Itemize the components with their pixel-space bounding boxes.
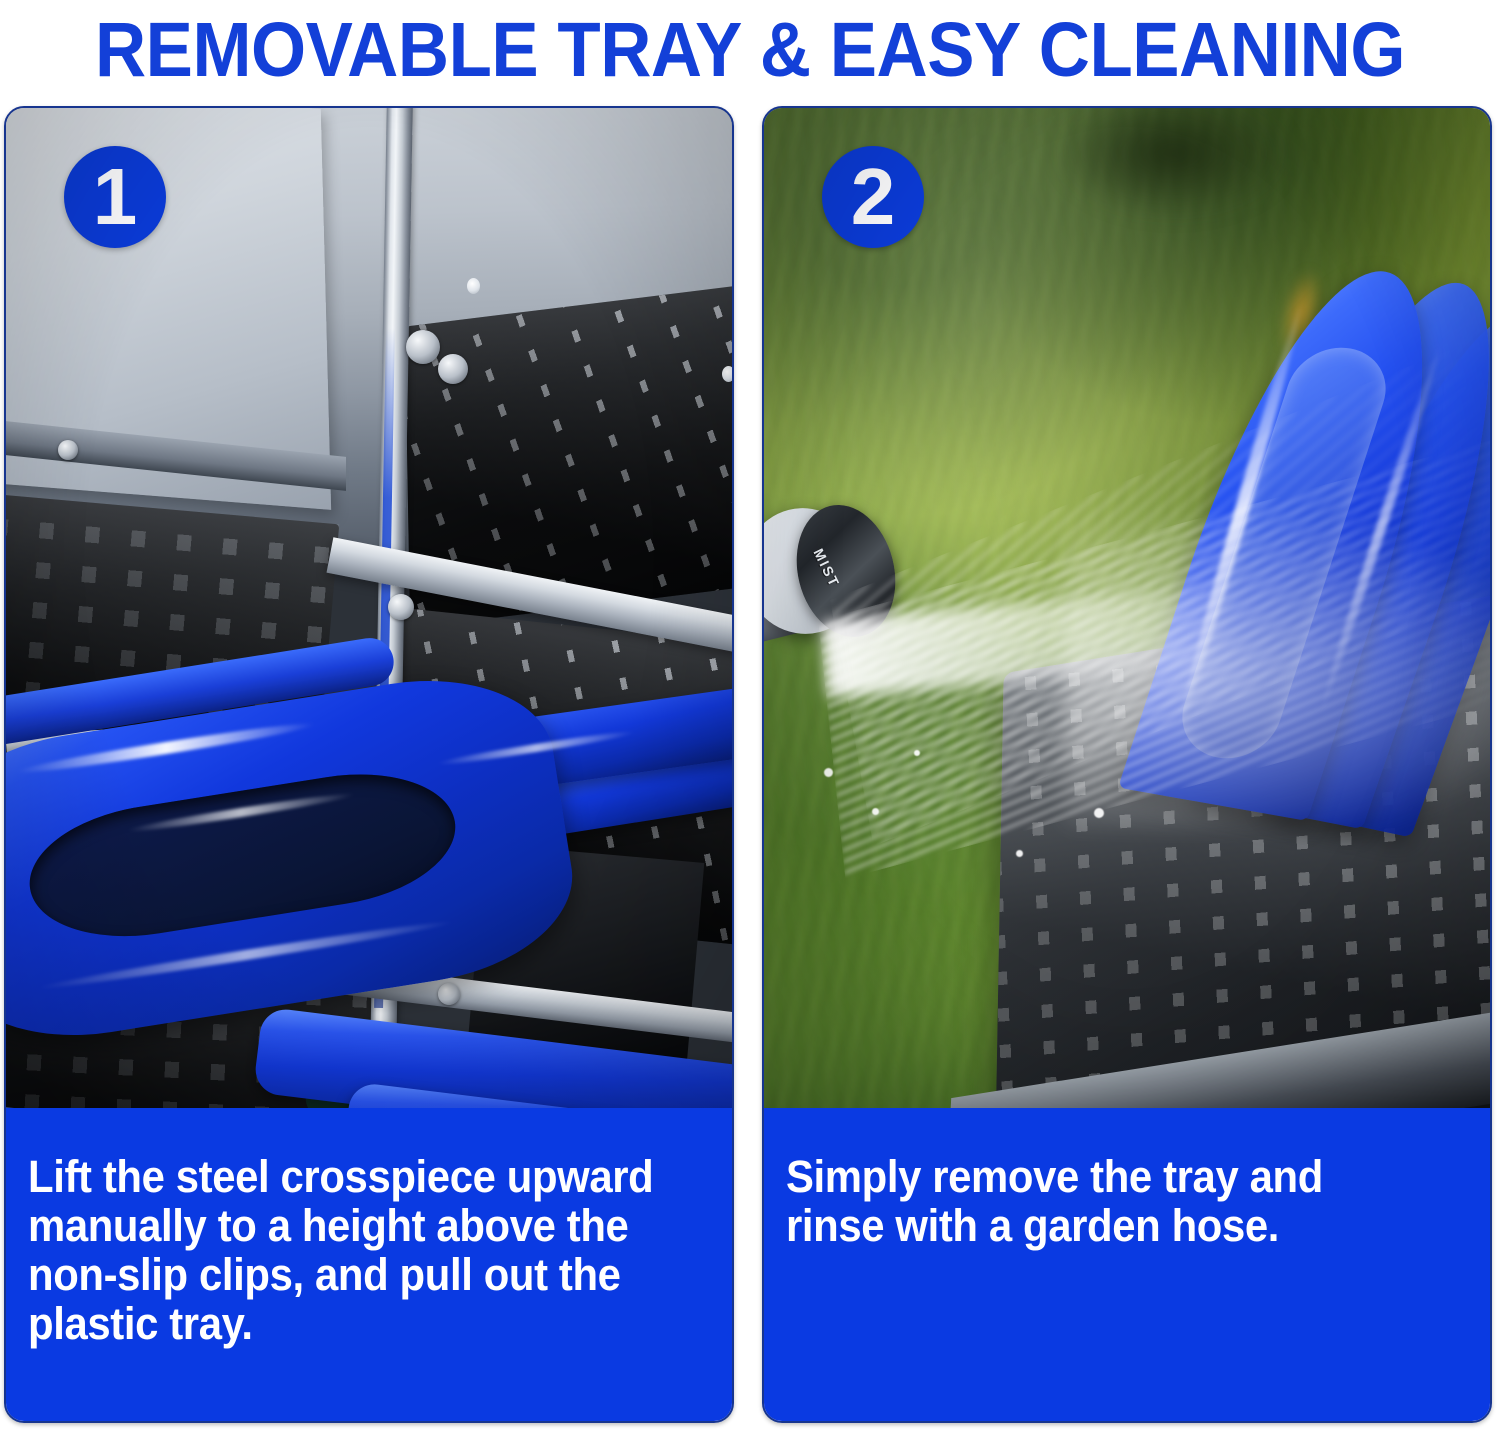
- water-droplet: [872, 808, 879, 815]
- water-droplet: [914, 750, 920, 756]
- steps-container: 1 Lift the steel crosspiece upward manua…: [0, 100, 1500, 1430]
- rivet-icon: [467, 278, 480, 294]
- step-badge-1: 1: [64, 146, 166, 248]
- bolt-icon: [438, 354, 468, 384]
- step-1-photo: 1: [6, 108, 732, 1108]
- step-2-caption-text: Simply remove the tray and rinse with a …: [786, 1152, 1418, 1250]
- grass-shadow-patch: [1054, 108, 1294, 218]
- step-2-caption: Simply remove the tray and rinse with a …: [764, 1108, 1490, 1421]
- bolt-icon: [406, 330, 440, 364]
- water-droplet: [1094, 808, 1104, 818]
- bolt-icon: [388, 594, 414, 620]
- rivet-icon: [722, 366, 732, 382]
- page-title: REMOVABLE TRAY & EASY CLEANING: [60, 0, 1440, 100]
- water-droplet: [1016, 850, 1023, 857]
- step-card-2: MIST 2 Simply remove the tray and rinse …: [762, 106, 1492, 1423]
- step-1-caption-text: Lift the steel crosspiece upward manuall…: [28, 1152, 660, 1348]
- water-droplet: [824, 768, 833, 777]
- step-2-photo: MIST 2: [764, 108, 1490, 1108]
- step-badge-2: 2: [822, 146, 924, 248]
- bolt-icon: [58, 440, 78, 460]
- step-card-1: 1 Lift the steel crosspiece upward manua…: [4, 106, 734, 1423]
- bolt-icon: [438, 983, 460, 1005]
- step-1-caption: Lift the steel crosspiece upward manuall…: [6, 1108, 732, 1421]
